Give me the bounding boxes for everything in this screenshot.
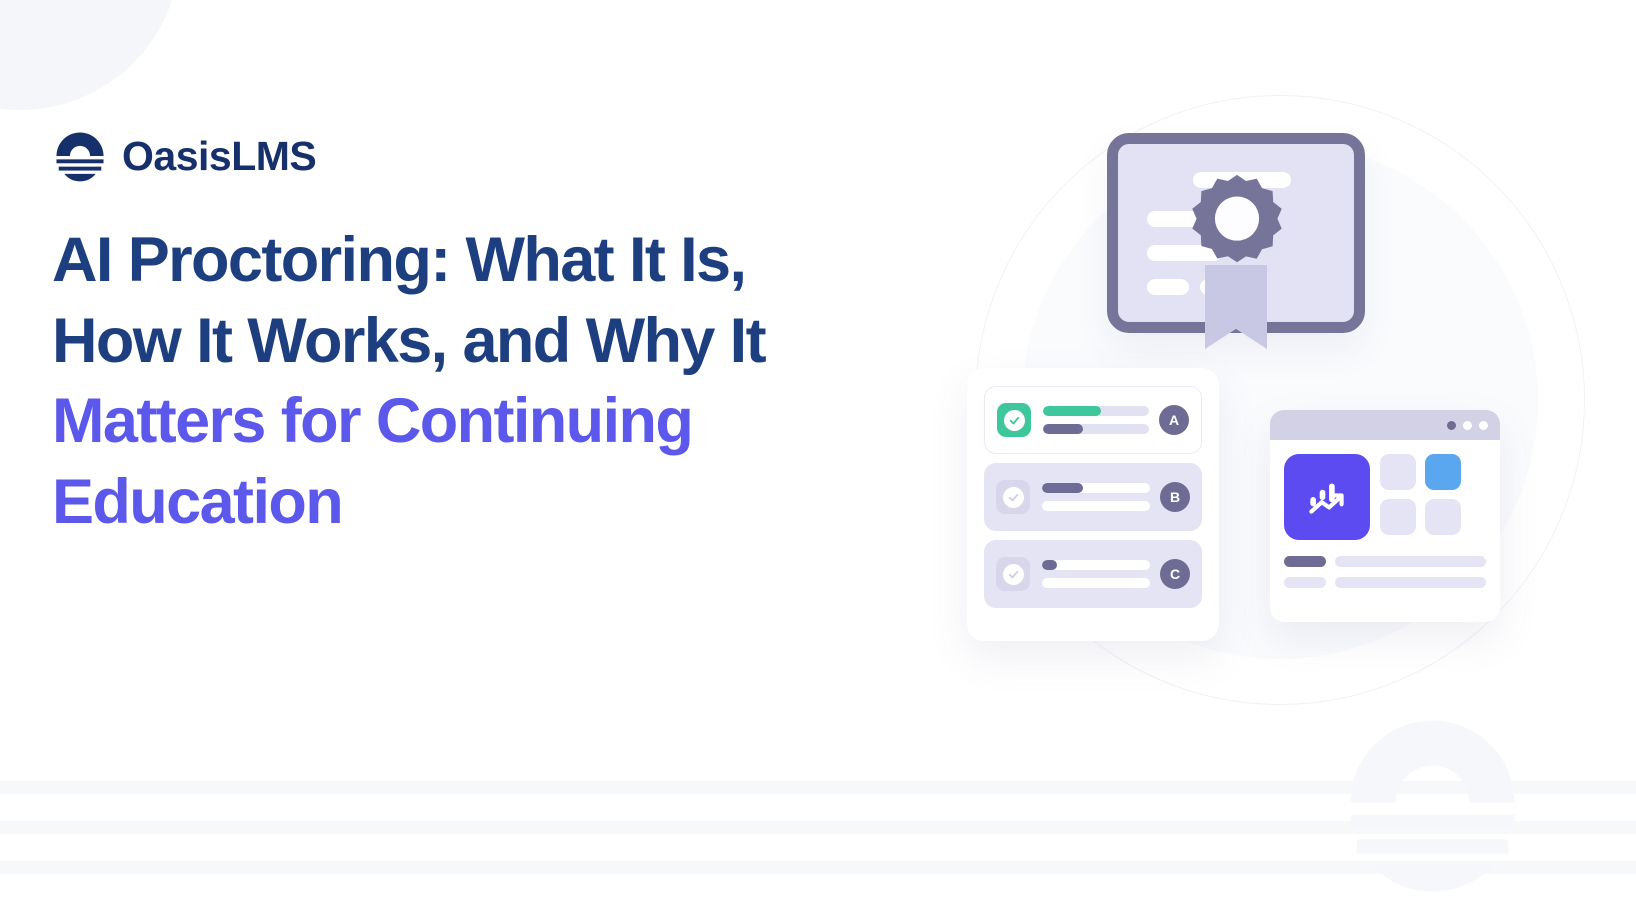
hero-content: OasisLMS AI Proctoring: What It Is, How … xyxy=(52,126,942,543)
quiz-badge-a: A xyxy=(1159,405,1189,435)
window-dot-icon[interactable] xyxy=(1479,421,1488,430)
dashboard-tile-active[interactable] xyxy=(1425,454,1461,490)
headline-line-1: AI Proctoring: What It Is, xyxy=(52,225,745,295)
quiz-checkbox-a[interactable] xyxy=(997,403,1031,437)
dashboard-tiles xyxy=(1284,454,1486,540)
dashboard-tile[interactable] xyxy=(1380,499,1416,535)
brand-name: OasisLMS xyxy=(122,136,316,177)
quiz-checkbox-c[interactable] xyxy=(996,557,1030,591)
background-corner-blob xyxy=(0,0,180,110)
dashboard-line xyxy=(1335,577,1486,588)
certificate-text-line xyxy=(1147,279,1189,295)
dashboard-line-row xyxy=(1284,577,1486,588)
dashboard-tile[interactable] xyxy=(1425,499,1461,535)
quiz-line xyxy=(1043,406,1149,416)
quiz-line xyxy=(1042,501,1150,511)
quiz-line xyxy=(1042,483,1150,493)
dashboard-line xyxy=(1335,556,1486,567)
oasis-sun-waves-logo-icon xyxy=(52,128,108,184)
quiz-answer-lines xyxy=(1042,560,1150,588)
award-seal-icon xyxy=(1189,173,1285,269)
dashboard-tile-grid xyxy=(1380,454,1461,540)
window-dot-icon[interactable] xyxy=(1463,421,1472,430)
ribbon-icon xyxy=(1205,265,1267,349)
dashboard-line xyxy=(1284,577,1326,588)
headline-line-2: How It Works, and Why It xyxy=(52,306,765,376)
quiz-answer-lines xyxy=(1042,483,1150,511)
dashboard-text-lines xyxy=(1284,556,1486,588)
oasis-sun-waves-watermark-icon xyxy=(1330,700,1535,905)
quiz-answer-lines xyxy=(1043,406,1149,434)
quiz-line xyxy=(1042,578,1150,588)
window-dot-icon[interactable] xyxy=(1447,421,1456,430)
quiz-answer-card: A B xyxy=(967,368,1219,641)
brand-lockup: OasisLMS xyxy=(52,126,942,186)
page-title: AI Proctoring: What It Is, How It Works,… xyxy=(52,220,922,543)
quiz-row-c[interactable]: C xyxy=(984,540,1202,608)
quiz-row-b[interactable]: B xyxy=(984,463,1202,531)
quiz-row-a[interactable]: A xyxy=(984,386,1202,454)
analytics-dashboard-window xyxy=(1270,410,1500,622)
dashboard-line xyxy=(1284,556,1326,567)
check-icon xyxy=(1003,487,1024,508)
dashboard-tile[interactable] xyxy=(1380,454,1416,490)
quiz-badge-b: B xyxy=(1160,482,1190,512)
window-titlebar xyxy=(1270,410,1500,440)
headline-accent: Matters for Continuing Education xyxy=(52,386,692,537)
quiz-badge-c: C xyxy=(1160,559,1190,589)
quiz-checkbox-b[interactable] xyxy=(996,480,1030,514)
quiz-line xyxy=(1042,560,1150,570)
check-icon xyxy=(1004,410,1025,431)
window-body xyxy=(1270,440,1500,598)
bar-chart-trend-up-icon xyxy=(1284,454,1370,540)
quiz-line xyxy=(1043,424,1149,434)
hero-illustration: A B xyxy=(930,80,1570,720)
check-icon xyxy=(1003,564,1024,585)
dashboard-line-row xyxy=(1284,556,1486,567)
hero-banner: OasisLMS AI Proctoring: What It Is, How … xyxy=(0,0,1636,919)
